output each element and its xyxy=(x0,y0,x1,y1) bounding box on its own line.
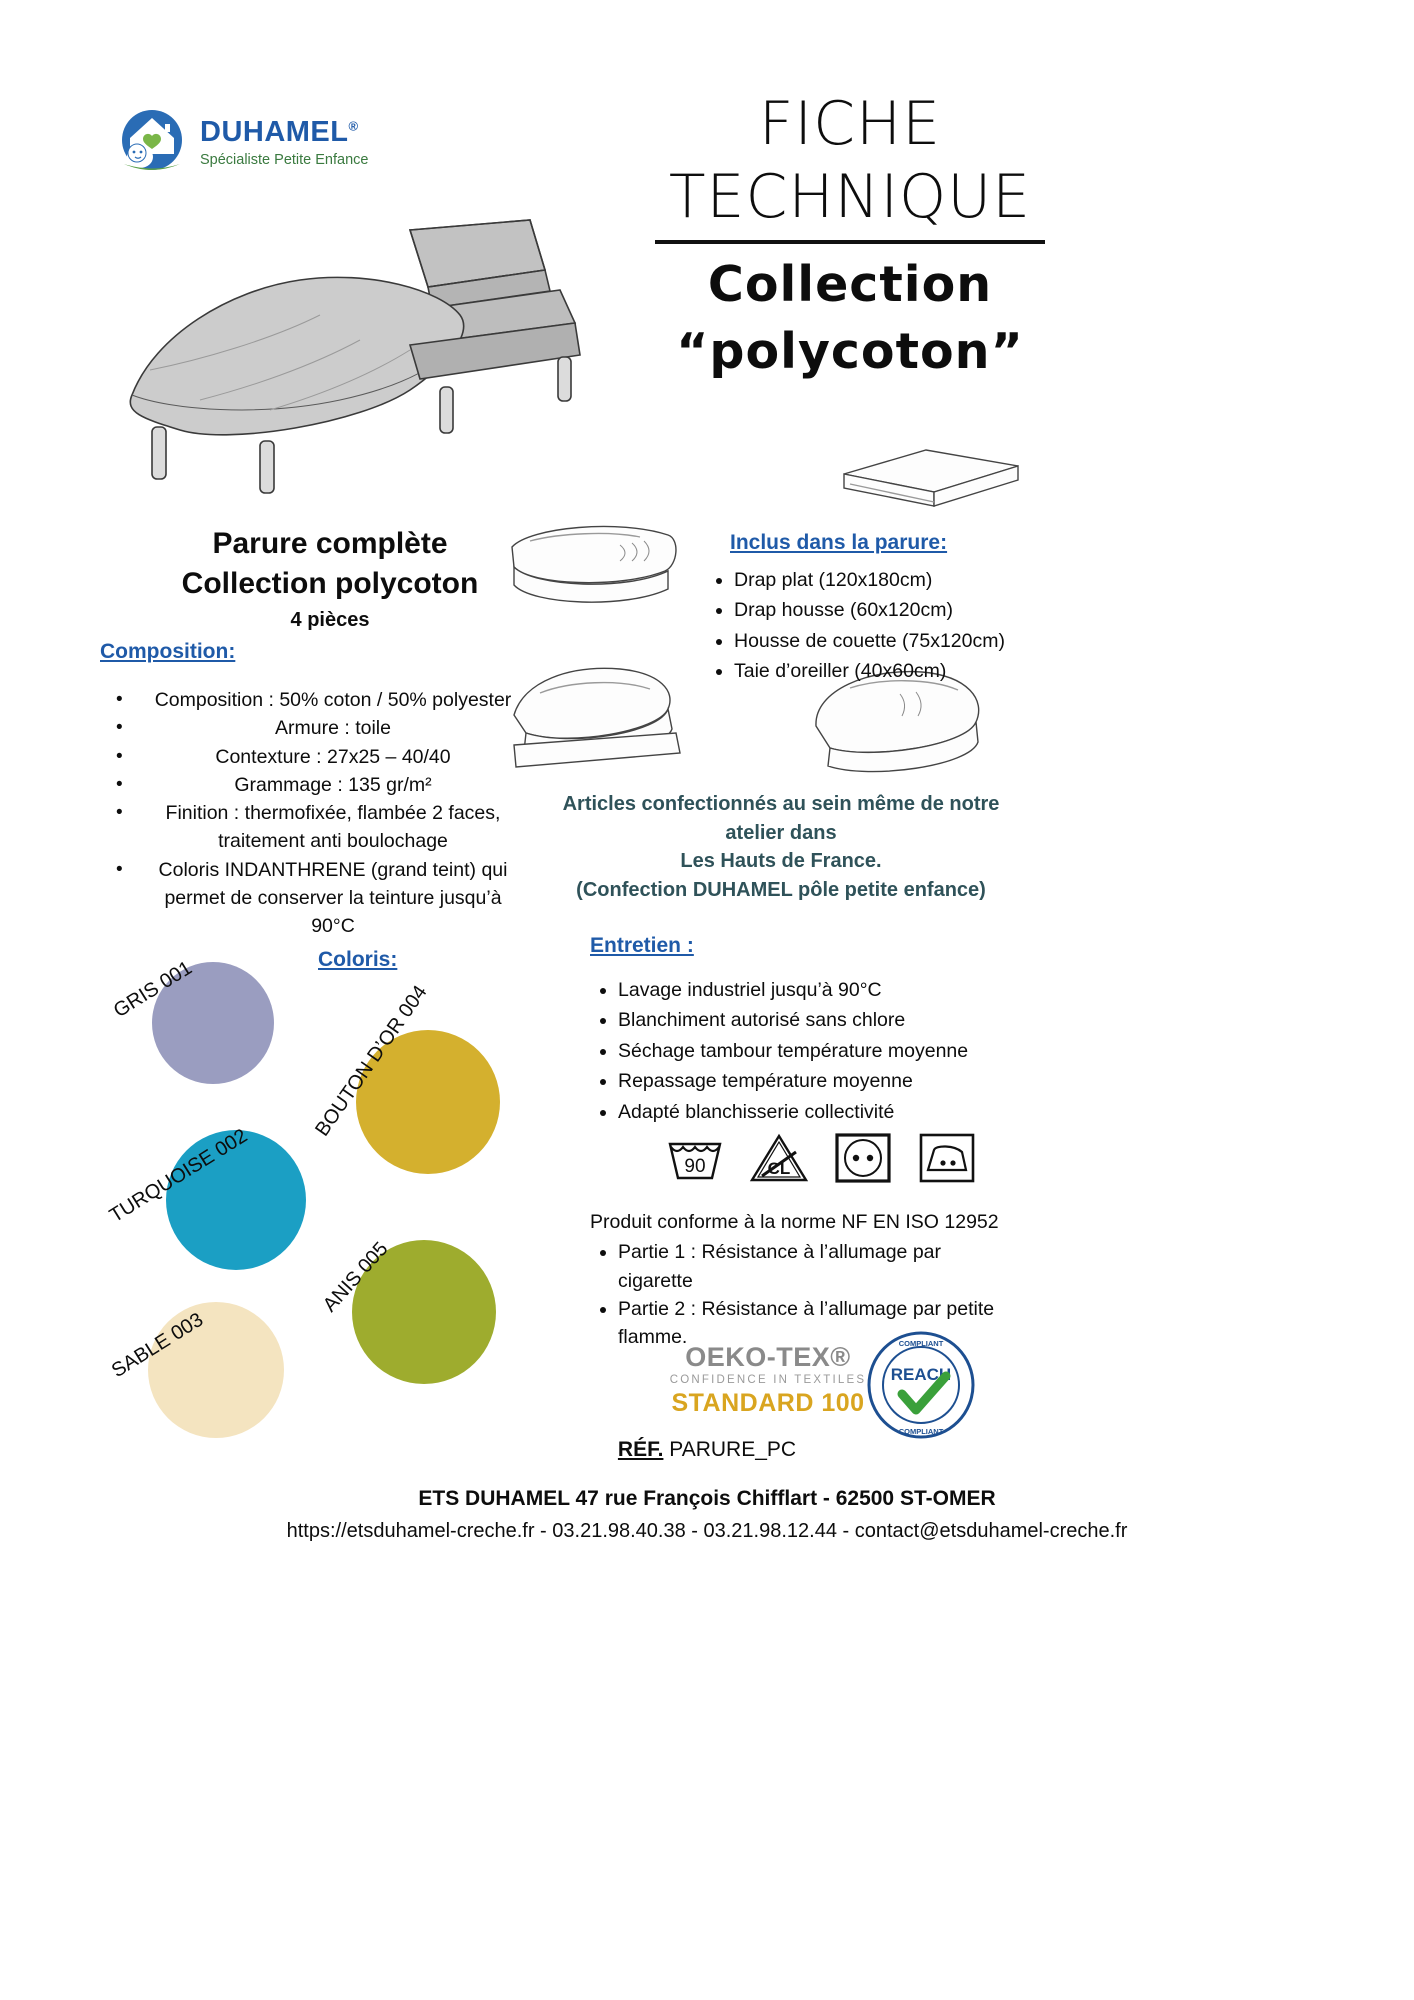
included-list: Drap plat (120x180cm) Drap housse (60x12… xyxy=(712,565,1042,687)
list-item: Séchage tambour température moyenne xyxy=(618,1036,1016,1066)
product-title-line-2: Collection polycoton xyxy=(95,564,565,604)
svg-text:90: 90 xyxy=(684,1156,705,1177)
reference-line: RÉF. PARURE_PC xyxy=(0,1438,1414,1462)
svg-text:COMPLIANT: COMPLIANT xyxy=(899,1427,944,1436)
reference-label: RÉF. xyxy=(618,1438,664,1461)
list-item: Housse de couette (75x120cm) xyxy=(734,626,1042,656)
document-title-block: FICHE TECHNIQUE Collection “polycoton” xyxy=(620,88,1080,385)
list-item: Lavage industriel jusqu’à 90°C xyxy=(618,975,1016,1005)
reach-logo: REACH COMPLIANT COMPLIANT xyxy=(866,1330,976,1440)
product-title: Parure complète Collection polycoton 4 p… xyxy=(95,524,565,632)
color-swatch-sable-003 xyxy=(148,1302,284,1438)
list-item: Blanchiment autorisé sans chlore xyxy=(618,1005,1016,1035)
list-item: Partie 1 : Résistance à l’allumage par c… xyxy=(618,1238,1010,1295)
list-item-continuation: traitement anti boulochage xyxy=(100,827,550,855)
iron-medium-icon xyxy=(916,1130,978,1186)
list-item-continuation: permet de conserver la teinture jusqu’à xyxy=(100,884,550,912)
composition-list: Composition : 50% coton / 50% polyester … xyxy=(100,686,550,940)
registered-mark: ® xyxy=(349,118,359,133)
oekotex-registered: ® xyxy=(830,1342,850,1372)
oekotex-subtitle: CONFIDENCE IN TEXTILES xyxy=(668,1374,868,1386)
product-title-line-1: Parure complète xyxy=(95,524,565,564)
title-line-1: FICHE xyxy=(620,88,1080,161)
datasheet-page: DUHAMEL® Spécialiste Petite Enfance FICH… xyxy=(0,0,1414,2000)
manufacturing-line-4: (Confection DUHAMEL pôle petite enfance) xyxy=(556,876,1006,905)
included-heading: Inclus dans la parure: xyxy=(730,531,947,555)
list-item: Finition : thermofixée, flambée 2 faces, xyxy=(100,799,550,827)
oekotex-name: OEKO-TEX® xyxy=(668,1342,868,1373)
colors-heading: Coloris: xyxy=(318,948,397,972)
manufacturing-line-3: Les Hauts de France. xyxy=(556,847,1006,876)
care-symbols: 90 CL xyxy=(664,1130,978,1186)
composition-heading: Composition: xyxy=(100,640,235,664)
list-item: Taie d’oreiller (40x60cm) xyxy=(734,656,1042,686)
oekotex-standard: STANDARD 100 xyxy=(668,1389,868,1418)
list-item: Drap housse (60x120cm) xyxy=(734,595,1042,625)
title-line-2: TECHNIQUE xyxy=(620,161,1080,234)
list-item: Contexture : 27x25 – 40/40 xyxy=(100,743,550,771)
do-not-bleach-chlorine-icon: CL xyxy=(748,1130,810,1186)
manufacturing-line-1: Articles confectionnés au sein même de n… xyxy=(556,790,1006,819)
care-heading: Entretien : xyxy=(590,934,694,958)
brand-name-text: DUHAMEL xyxy=(200,116,349,148)
oekotex-name-text: OEKO-TEX xyxy=(685,1342,830,1372)
company-logo: DUHAMEL® Spécialiste Petite Enfance xyxy=(118,108,428,188)
svg-text:COMPLIANT: COMPLIANT xyxy=(899,1339,944,1348)
bed-illustration xyxy=(110,195,590,505)
list-item: Drap plat (120x180cm) xyxy=(734,565,1042,595)
list-item: Composition : 50% coton / 50% polyester xyxy=(100,686,550,714)
manufacturing-note: Articles confectionnés au sein même de n… xyxy=(556,790,1006,904)
list-item-continuation: 90°C xyxy=(100,912,550,940)
footer-contact: https://etsduhamel-creche.fr - 03.21.98.… xyxy=(0,1520,1414,1543)
product-pieces: 4 pièces xyxy=(95,609,565,632)
house-heart-baby-icon xyxy=(118,108,190,176)
standard-intro: Produit conforme à la norme NF EN ISO 12… xyxy=(590,1208,1010,1236)
title-divider xyxy=(655,240,1045,244)
care-list: Lavage industriel jusqu’à 90°C Blanchime… xyxy=(596,975,1016,1127)
list-item: Repassage température moyenne xyxy=(618,1066,1016,1096)
tumble-dry-medium-icon xyxy=(832,1130,894,1186)
oekotex-logo: OEKO-TEX® CONFIDENCE IN TEXTILES STANDAR… xyxy=(668,1342,868,1418)
wash-tub-90-icon: 90 xyxy=(664,1130,726,1186)
folded-flat-sheet-illustration xyxy=(830,440,1030,535)
footer-address: ETS DUHAMEL 47 rue François Chifflart - … xyxy=(0,1487,1414,1511)
list-item: Grammage : 135 gr/m² xyxy=(100,771,550,799)
brand-name: DUHAMEL® xyxy=(200,116,359,149)
brand-tagline: Spécialiste Petite Enfance xyxy=(200,152,368,168)
manufacturing-line-2: atelier dans xyxy=(556,819,1006,848)
list-item: Adapté blanchisserie collectivité xyxy=(618,1097,1016,1127)
reference-value: PARURE_PC xyxy=(669,1438,796,1461)
collection-line-1: Collection xyxy=(620,252,1080,318)
collection-line-2: “polycoton” xyxy=(620,319,1080,385)
list-item: Coloris INDANTHRENE (grand teint) qui xyxy=(100,856,550,884)
list-item: Armure : toile xyxy=(100,714,550,742)
